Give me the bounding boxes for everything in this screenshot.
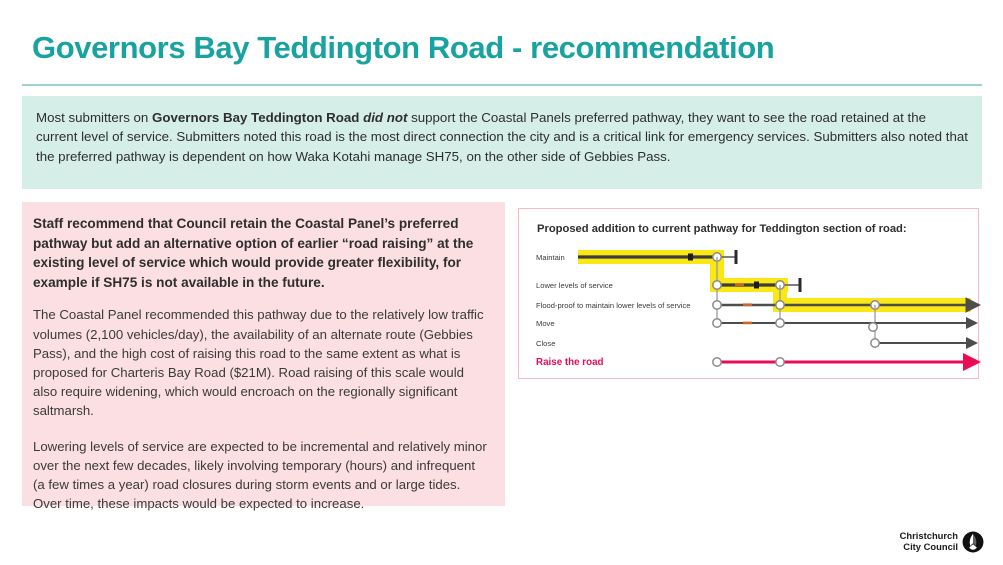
diagram-row-labels: MaintainLower levels of serviceFlood-pro… (536, 253, 690, 368)
diagram-row-label-5: Raise the road (536, 357, 604, 368)
diagram-row-label-2: Flood-proof to maintain lower levels of … (536, 301, 690, 310)
diagram-row-label-1: Lower levels of service (536, 281, 613, 290)
diagram-row-label-3: Move (536, 319, 555, 328)
council-logo-line-1: Christchurch (900, 530, 958, 541)
council-logo-line-2: City Council (900, 541, 958, 552)
diagram-row-close (871, 339, 968, 347)
diagram-row-label-4: Close (536, 339, 555, 348)
diagram-row-label-0: Maintain (536, 253, 565, 262)
diagram-row-move (713, 319, 968, 331)
pathway-diagram-graphic: MaintainLower levels of serviceFlood-pro… (0, 0, 1003, 565)
council-logo-text: Christchurch City Council (900, 530, 958, 553)
council-emblem-icon (962, 531, 984, 553)
council-logo: Christchurch City Council (888, 530, 984, 560)
diagram-row-raise-the-road (713, 358, 966, 366)
